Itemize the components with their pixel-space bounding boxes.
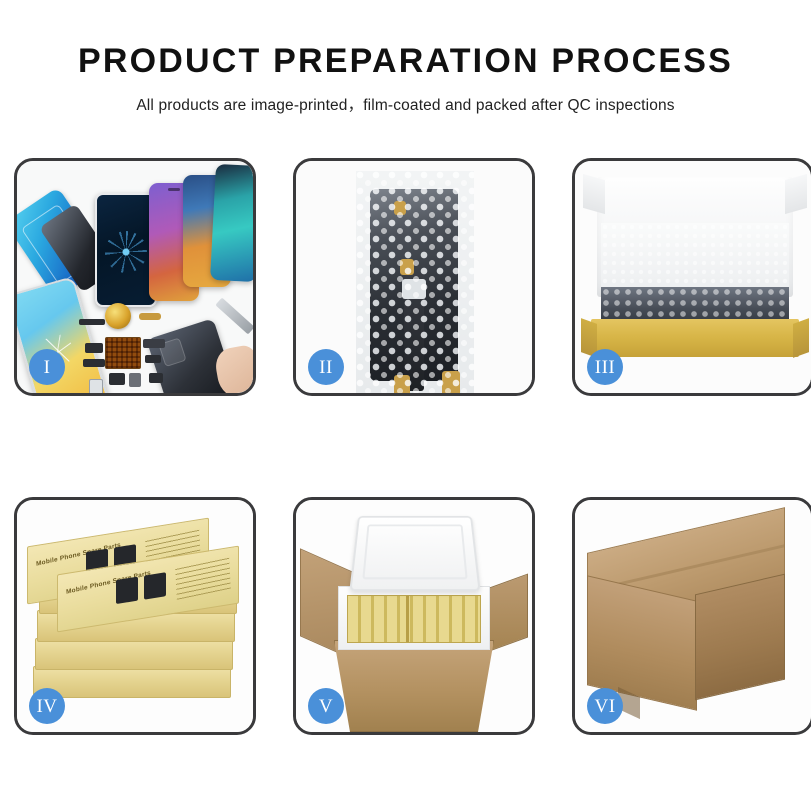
bubble-texture xyxy=(356,171,474,393)
step-card-1[interactable]: I xyxy=(14,158,256,396)
step-card-2[interactable]: II xyxy=(293,158,535,396)
step-badge-1: I xyxy=(29,349,65,385)
step-card-3[interactable]: III xyxy=(572,158,811,396)
small-part xyxy=(79,319,105,325)
white-foam-layer xyxy=(601,223,789,295)
step-badge-4: IV xyxy=(29,688,65,724)
step-badge-5: V xyxy=(308,688,344,724)
page-title: PRODUCT PREPARATION PROCESS xyxy=(0,44,811,78)
step-badge-3: III xyxy=(587,349,623,385)
gold-box-tray xyxy=(591,319,799,357)
small-part xyxy=(85,343,103,353)
small-part xyxy=(89,379,103,393)
small-part xyxy=(109,373,125,385)
step-badge-2: II xyxy=(308,349,344,385)
carton-body xyxy=(334,640,494,732)
product-preparation-infographic: PRODUCT PREPARATION PROCESS All products… xyxy=(0,0,811,811)
step-card-6[interactable]: VI xyxy=(572,497,811,735)
carton-side-face xyxy=(695,574,785,701)
stacked-box xyxy=(35,638,233,670)
small-part xyxy=(83,359,105,367)
box-artwork-swatch xyxy=(144,572,166,599)
bubble-wrap-package xyxy=(356,171,474,393)
foam-inner-box xyxy=(338,586,490,650)
header: PRODUCT PREPARATION PROCESS All products… xyxy=(0,0,811,115)
cracked-glass-pattern xyxy=(105,231,147,273)
bubble-wrapped-contents xyxy=(601,287,789,323)
box-artwork-swatch xyxy=(116,577,138,604)
tweezers-tool xyxy=(215,298,253,335)
small-part xyxy=(149,373,163,383)
steps-grid: I II xyxy=(14,158,797,735)
box-label-text: Mobile Phone Spare Parts xyxy=(36,542,121,568)
page-subtitle: All products are image-printed，film-coat… xyxy=(0,93,811,115)
small-part xyxy=(143,339,165,348)
gold-boxes-inside xyxy=(347,595,481,643)
small-part xyxy=(145,355,161,363)
phone-teal xyxy=(210,164,253,282)
copper-coil-part xyxy=(105,303,131,329)
box-stack: Mobile Phone Spare Parts Mobile Phone Sp… xyxy=(23,518,247,718)
phone-black-front xyxy=(95,193,157,307)
step-card-4[interactable]: Mobile Phone Spare Parts Mobile Phone Sp… xyxy=(14,497,256,735)
small-part xyxy=(139,313,161,320)
chip-grid-part xyxy=(105,337,141,369)
box-label-text: Mobile Phone Spare Parts xyxy=(66,570,151,596)
stacked-box xyxy=(33,666,231,698)
white-foam-lid xyxy=(349,516,480,591)
step-card-5[interactable]: V xyxy=(293,497,535,735)
step-badge-6: VI xyxy=(587,688,623,724)
small-part xyxy=(129,373,141,387)
box-spec-lines xyxy=(175,557,231,600)
